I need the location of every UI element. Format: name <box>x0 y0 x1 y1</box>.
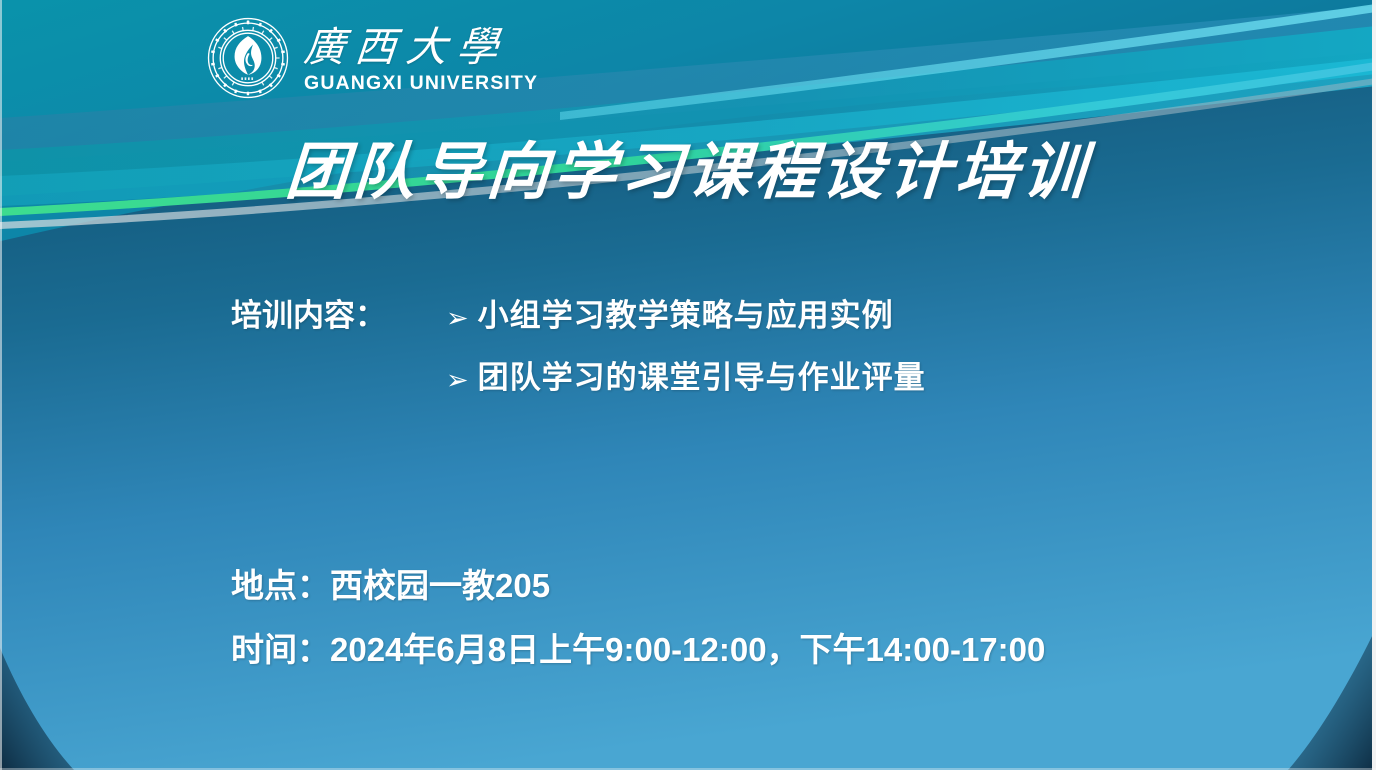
university-name-en: GUANGXI UNIVERSITY <box>304 72 538 94</box>
event-time-line: 时间：2024年6月8日上午9:00-12:00，下午14:00-17:00 <box>231 624 1045 676</box>
training-content-label: 培训内容： <box>231 286 446 346</box>
university-name-cn: 廣西大學 <box>302 24 540 70</box>
list-item-label: 小组学习教学策略与应用实例 <box>478 286 894 346</box>
slide-edge-left <box>0 0 2 770</box>
university-name-block: 廣西大學 GUANGXI UNIVERSITY <box>304 22 538 94</box>
list-item: ➢ 小组学习教学策略与应用实例 <box>446 286 926 346</box>
slide-edge-right <box>1372 0 1376 770</box>
event-details-block: 地点：西校园一教205 时间：2024年6月8日上午9:00-12:00，下午1… <box>231 560 1045 676</box>
training-content-list: ➢ 小组学习教学策略与应用实例 ➢ 团队学习的课堂引导与作业评量 <box>446 286 926 408</box>
list-item: ➢ 团队学习的课堂引导与作业评量 <box>446 348 926 408</box>
arrow-bullet-icon: ➢ <box>446 351 469 411</box>
university-logo-lockup: 廣西大學 GUANGXI UNIVERSITY <box>206 16 538 100</box>
arrow-bullet-icon: ➢ <box>446 289 469 349</box>
training-content-block: 培训内容： ➢ 小组学习教学策略与应用实例 ➢ 团队学习的课堂引导与作业评量 <box>231 286 926 408</box>
list-item-label: 团队学习的课堂引导与作业评量 <box>478 348 926 408</box>
presentation-slide: 廣西大學 GUANGXI UNIVERSITY 团队导向学习课程设计培训 培训内… <box>0 0 1376 770</box>
event-venue-line: 地点：西校园一教205 <box>231 560 1045 612</box>
guangxi-university-seal-icon <box>206 16 290 100</box>
slide-title: 团队导向学习课程设计培训 <box>0 133 1376 211</box>
